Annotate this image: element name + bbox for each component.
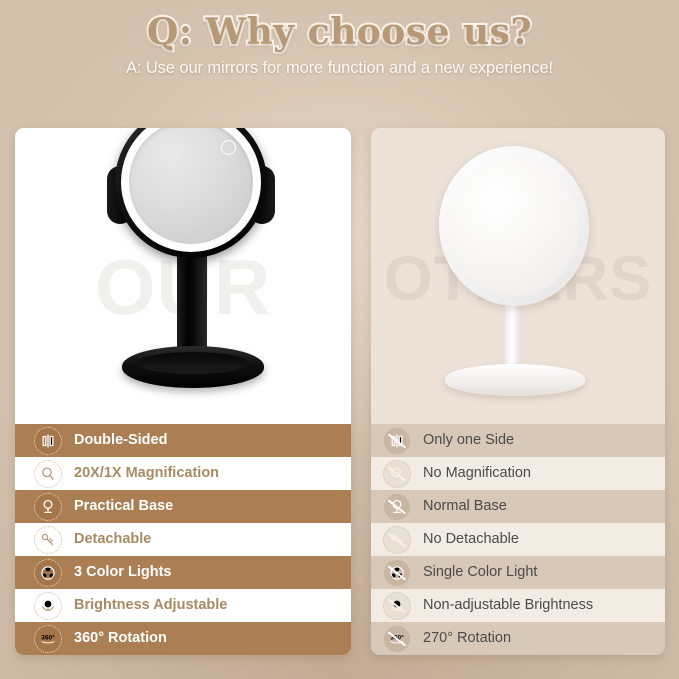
feature-row: Single Color Light	[371, 556, 665, 589]
our-mirror-illustration	[107, 128, 277, 391]
rotation-360-icon: 360°	[383, 625, 411, 653]
feature-label: No Detachable	[423, 532, 519, 547]
mirror-touch-button-icon	[221, 140, 236, 155]
feature-label: Practical Base	[74, 499, 173, 514]
others-feature-list: Only one Side No Magnification	[371, 424, 665, 655]
page-title: Q: Why choose us?	[0, 0, 679, 50]
magnifier-icon	[383, 460, 411, 488]
others-product-hero: OTHERS	[371, 128, 665, 386]
feature-row: Normal Base	[371, 490, 665, 523]
our-product-card: OUR	[15, 128, 351, 655]
header: Q: Why choose us? A: Use our mirrors for…	[0, 0, 679, 78]
feature-label: 270° Rotation	[423, 631, 511, 646]
feature-row: Detachable	[15, 523, 351, 556]
double-sided-icon	[34, 427, 62, 455]
base-icon	[34, 493, 62, 521]
feature-label: 360° Rotation	[74, 631, 167, 646]
feature-label: Double-Sided	[74, 433, 167, 448]
feature-row: No Detachable	[371, 523, 665, 556]
feature-row: Practical Base	[15, 490, 351, 523]
feature-row: 360° 360° Rotation	[15, 622, 351, 655]
mirror-base	[445, 364, 585, 396]
detachable-icon	[383, 526, 411, 554]
feature-row: Brightness Adjustable	[15, 589, 351, 622]
svg-text:360°: 360°	[41, 633, 55, 641]
feature-label: Non-adjustable Brightness	[423, 598, 593, 613]
feature-row: No Magnification	[371, 457, 665, 490]
feature-label: Detachable	[74, 532, 151, 547]
double-sided-icon	[383, 427, 411, 455]
feature-label: Only one Side	[423, 433, 514, 448]
feature-row: Non-adjustable Brightness	[371, 589, 665, 622]
brightness-icon	[34, 592, 62, 620]
feature-row: 20X/1X Magnification	[15, 457, 351, 490]
feature-label: 3 Color Lights	[74, 565, 171, 580]
our-feature-list: Double-Sided 20X/1X Magnification Practi…	[15, 424, 351, 655]
feature-row: Only one Side	[371, 424, 665, 457]
others-mirror-illustration	[431, 146, 606, 391]
feature-label: No Magnification	[423, 466, 531, 481]
feature-row: 3 Color Lights	[15, 556, 351, 589]
page-subtitle: A: Use our mirrors for more function and…	[0, 50, 679, 78]
rotation-360-icon: 360°	[34, 625, 62, 653]
brightness-icon	[383, 592, 411, 620]
mirror-stem	[177, 246, 207, 356]
magnifier-icon	[34, 460, 62, 488]
our-product-hero: OUR	[15, 128, 351, 386]
color-lights-icon	[383, 559, 411, 587]
feature-row: 360° 270° Rotation	[371, 622, 665, 655]
others-product-card: OTHERS Only one Side	[371, 128, 665, 655]
feature-label: Brightness Adjustable	[74, 598, 227, 613]
feature-row: Double-Sided	[15, 424, 351, 457]
feature-label: Normal Base	[423, 499, 507, 514]
feature-label: Single Color Light	[423, 565, 537, 580]
detachable-icon	[34, 526, 62, 554]
mirror-base-tray	[137, 352, 249, 374]
base-icon	[383, 493, 411, 521]
feature-label: 20X/1X Magnification	[74, 466, 219, 481]
color-lights-icon	[34, 559, 62, 587]
comparison-infographic: Q: Why choose us? A: Use our mirrors for…	[0, 0, 679, 679]
